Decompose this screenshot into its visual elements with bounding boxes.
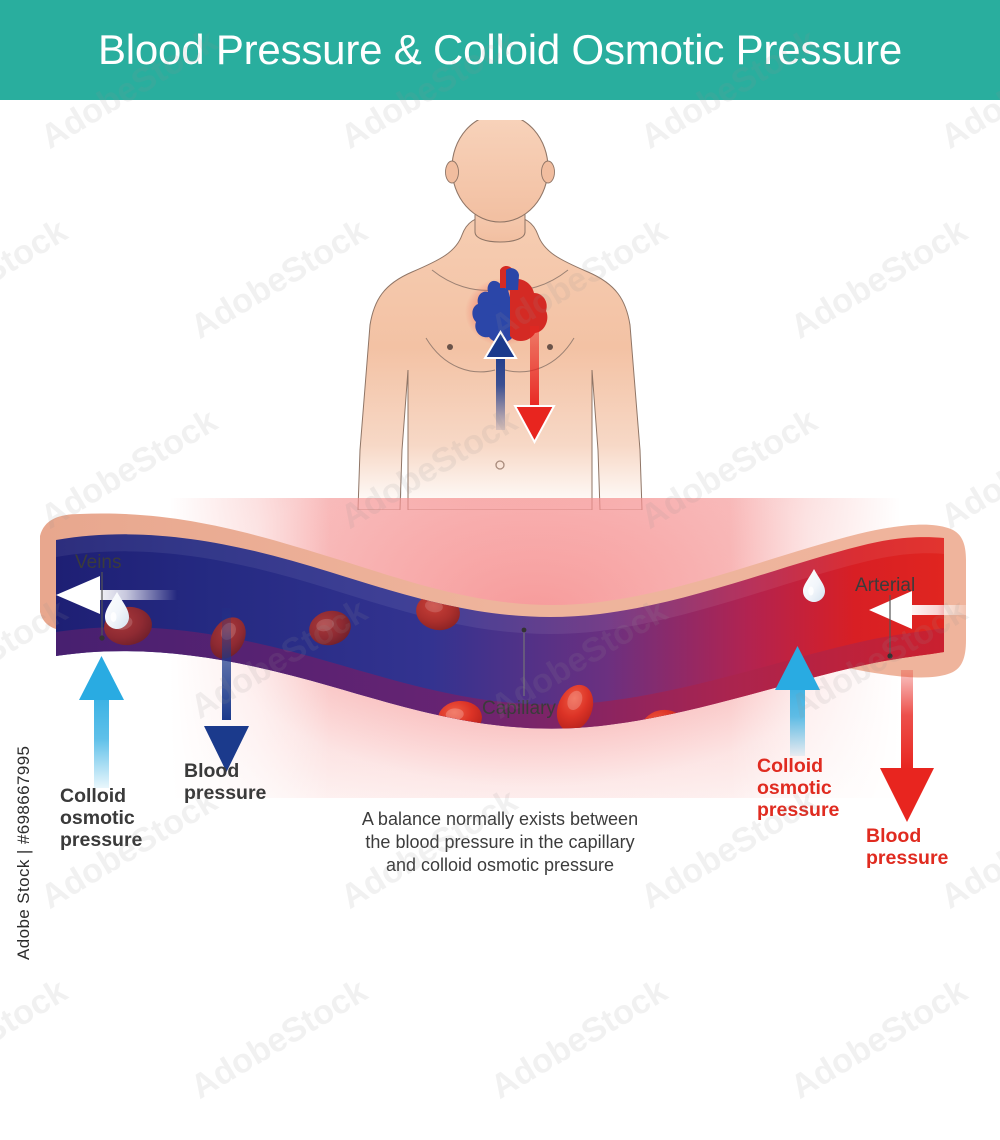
label-blood-pressure-left: Blood pressure	[184, 760, 266, 804]
label-colloid-osmotic-pressure-left: Colloid osmotic pressure	[60, 785, 142, 851]
label-line: Colloid	[60, 785, 142, 807]
page-title: Blood Pressure & Colloid Osmotic Pressur…	[0, 0, 1000, 100]
label-line: Colloid	[757, 755, 839, 777]
leader-line-capillary	[522, 628, 527, 696]
colloid-osmotic-arrow-left	[79, 656, 124, 788]
label-line: Blood	[184, 760, 266, 782]
label-line: pressure	[60, 829, 142, 851]
stock-id-watermark: Adobe Stock | #698667995	[14, 746, 34, 960]
caption-line-1: A balance normally exists between	[300, 808, 700, 831]
label-line: pressure	[184, 782, 266, 804]
leader-line-veins	[99, 572, 104, 641]
illustration-stage: Veins Arterial Capillary Colloid osmotic…	[0, 100, 1000, 1000]
label-line: Blood	[866, 825, 948, 847]
leader-line-arterial	[887, 595, 892, 659]
header-bar: Blood Pressure & Colloid Osmotic Pressur…	[0, 0, 1000, 100]
label-capillary: Capillary	[482, 698, 556, 720]
caption-line-3: and colloid osmotic pressure	[300, 854, 700, 877]
colloid-osmotic-arrow-right	[775, 646, 820, 756]
label-colloid-osmotic-pressure-right: Colloid osmotic pressure	[757, 755, 839, 821]
blood-pressure-arrow-right	[880, 670, 934, 822]
caption-line-2: the blood pressure in the capillary	[300, 831, 700, 854]
label-line: pressure	[757, 799, 839, 821]
caption-text: A balance normally exists between the bl…	[300, 808, 700, 877]
blood-pressure-arrow-left	[204, 608, 249, 772]
label-arterial: Arterial	[855, 575, 915, 597]
label-line: pressure	[866, 847, 948, 869]
label-line: osmotic	[757, 777, 839, 799]
label-blood-pressure-right: Blood pressure	[866, 825, 948, 869]
label-line: osmotic	[60, 807, 142, 829]
label-veins: Veins	[75, 552, 121, 574]
